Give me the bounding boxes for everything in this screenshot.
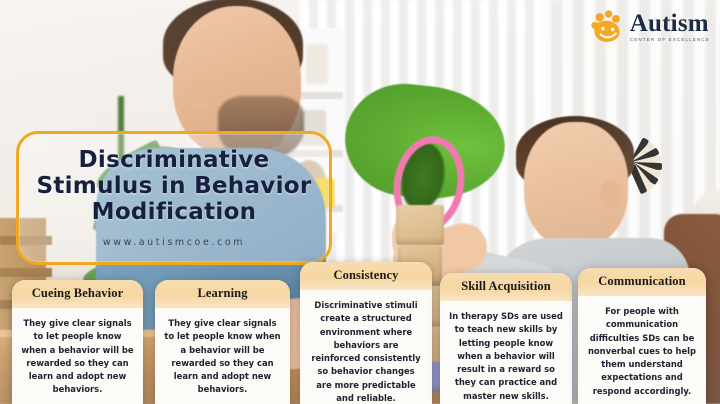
feature-card-learning[interactable]: Learning They give clear signals to let …	[155, 280, 290, 404]
infographic-canvas: A Z C G E	[0, 0, 720, 404]
card-body-text: They give clear signals to let people kn…	[12, 308, 143, 404]
card-title: Cueing Behavior	[16, 286, 139, 301]
card-title: Communication	[582, 274, 702, 289]
card-title: Consistency	[304, 268, 428, 283]
feature-card-communication[interactable]: Communication For people with communicat…	[578, 268, 706, 404]
card-body-text: Discriminative stimuli create a structur…	[300, 290, 432, 404]
card-header: Consistency	[300, 262, 432, 290]
card-header: Communication	[578, 268, 706, 296]
feature-card-consistency[interactable]: Consistency Discriminative stimuli creat…	[300, 262, 432, 404]
feature-card-skill-acquisition[interactable]: Skill Acquisition In therapy SDs are use…	[440, 273, 572, 404]
feature-card-cueing-behavior[interactable]: Cueing Behavior They give clear signals …	[12, 280, 143, 404]
card-title: Skill Acquisition	[444, 279, 568, 294]
card-header: Skill Acquisition	[440, 273, 572, 301]
card-body-text: They give clear signals to let people kn…	[155, 308, 290, 404]
card-body-text: For people with communication difficulti…	[578, 296, 706, 404]
card-header: Learning	[155, 280, 290, 308]
card-body-text: In therapy SDs are used to teach new ski…	[440, 301, 572, 404]
card-header: Cueing Behavior	[12, 280, 143, 308]
feature-card-row: Cueing Behavior They give clear signals …	[0, 0, 720, 404]
card-title: Learning	[159, 286, 286, 301]
